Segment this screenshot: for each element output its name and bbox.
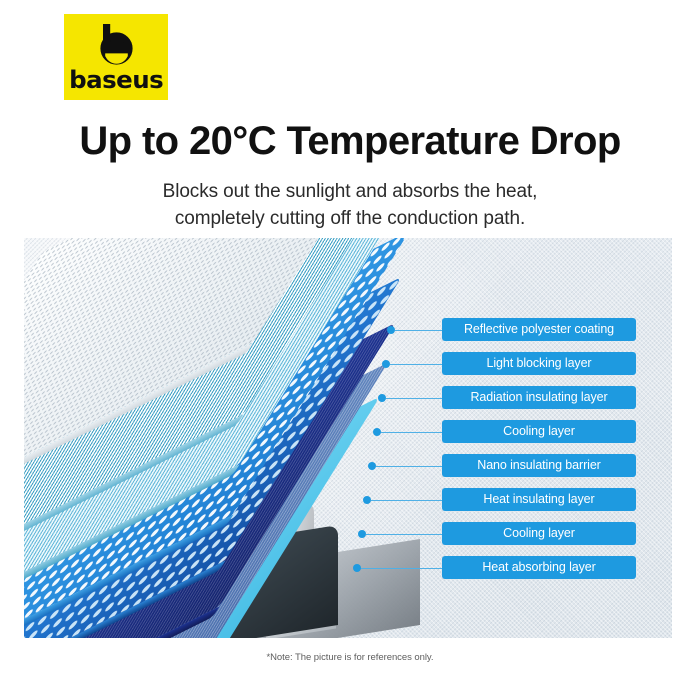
callout-leader-line [371, 500, 442, 501]
callout-label: Heat absorbing layer [442, 556, 636, 579]
callout-label: Cooling layer [442, 420, 636, 443]
callout-dot-icon [368, 462, 376, 470]
callout-label: Light blocking layer [442, 352, 636, 375]
callout-label: Heat insulating layer [442, 488, 636, 511]
callout-dot-icon [363, 496, 371, 504]
callout-leader-line [376, 466, 442, 467]
callout-dot-icon [387, 326, 395, 334]
callout-label-group: Reflective polyester coating Light block… [24, 238, 672, 638]
callout-light-blocking-layer: Light blocking layer [24, 352, 672, 375]
callout-dot-icon [358, 530, 366, 538]
footnote-disclaimer: *Note: The picture is for references onl… [0, 652, 700, 663]
callout-label: Nano insulating barrier [442, 454, 636, 477]
page-subtitle-line-2: completely cutting off the conduction pa… [0, 205, 700, 232]
callout-cooling-layer-upper: Cooling layer [24, 420, 672, 443]
callout-heat-absorbing-layer: Heat absorbing layer [24, 556, 672, 579]
callout-heat-insulating-layer: Heat insulating layer [24, 488, 672, 511]
callout-dot-icon [382, 360, 390, 368]
callout-dot-icon [373, 428, 381, 436]
callout-leader-line [361, 568, 442, 569]
callout-dot-icon [353, 564, 361, 572]
callout-label: Cooling layer [442, 522, 636, 545]
callout-leader-line [390, 364, 442, 365]
callout-leader-line [386, 398, 442, 399]
callout-leader-line [395, 330, 442, 331]
callout-radiation-insulating-layer: Radiation insulating layer [24, 386, 672, 409]
brand-logo: baseus [64, 14, 168, 100]
callout-reflective-polyester-coating: Reflective polyester coating [24, 318, 672, 341]
baseus-b-mark-icon [93, 22, 139, 66]
callout-label: Reflective polyester coating [442, 318, 636, 341]
callout-dot-icon [378, 394, 386, 402]
callout-cooling-layer-lower: Cooling layer [24, 522, 672, 545]
page-subtitle: Blocks out the sunlight and absorbs the … [0, 178, 700, 232]
callout-nano-insulating-barrier: Nano insulating barrier [24, 454, 672, 477]
callout-leader-line [381, 432, 442, 433]
brand-wordmark: baseus [69, 68, 163, 92]
callout-leader-line [366, 534, 442, 535]
page-subtitle-line-1: Blocks out the sunlight and absorbs the … [0, 178, 700, 205]
callout-label: Radiation insulating layer [442, 386, 636, 409]
page-title: Up to 20°C Temperature Drop [0, 118, 700, 164]
